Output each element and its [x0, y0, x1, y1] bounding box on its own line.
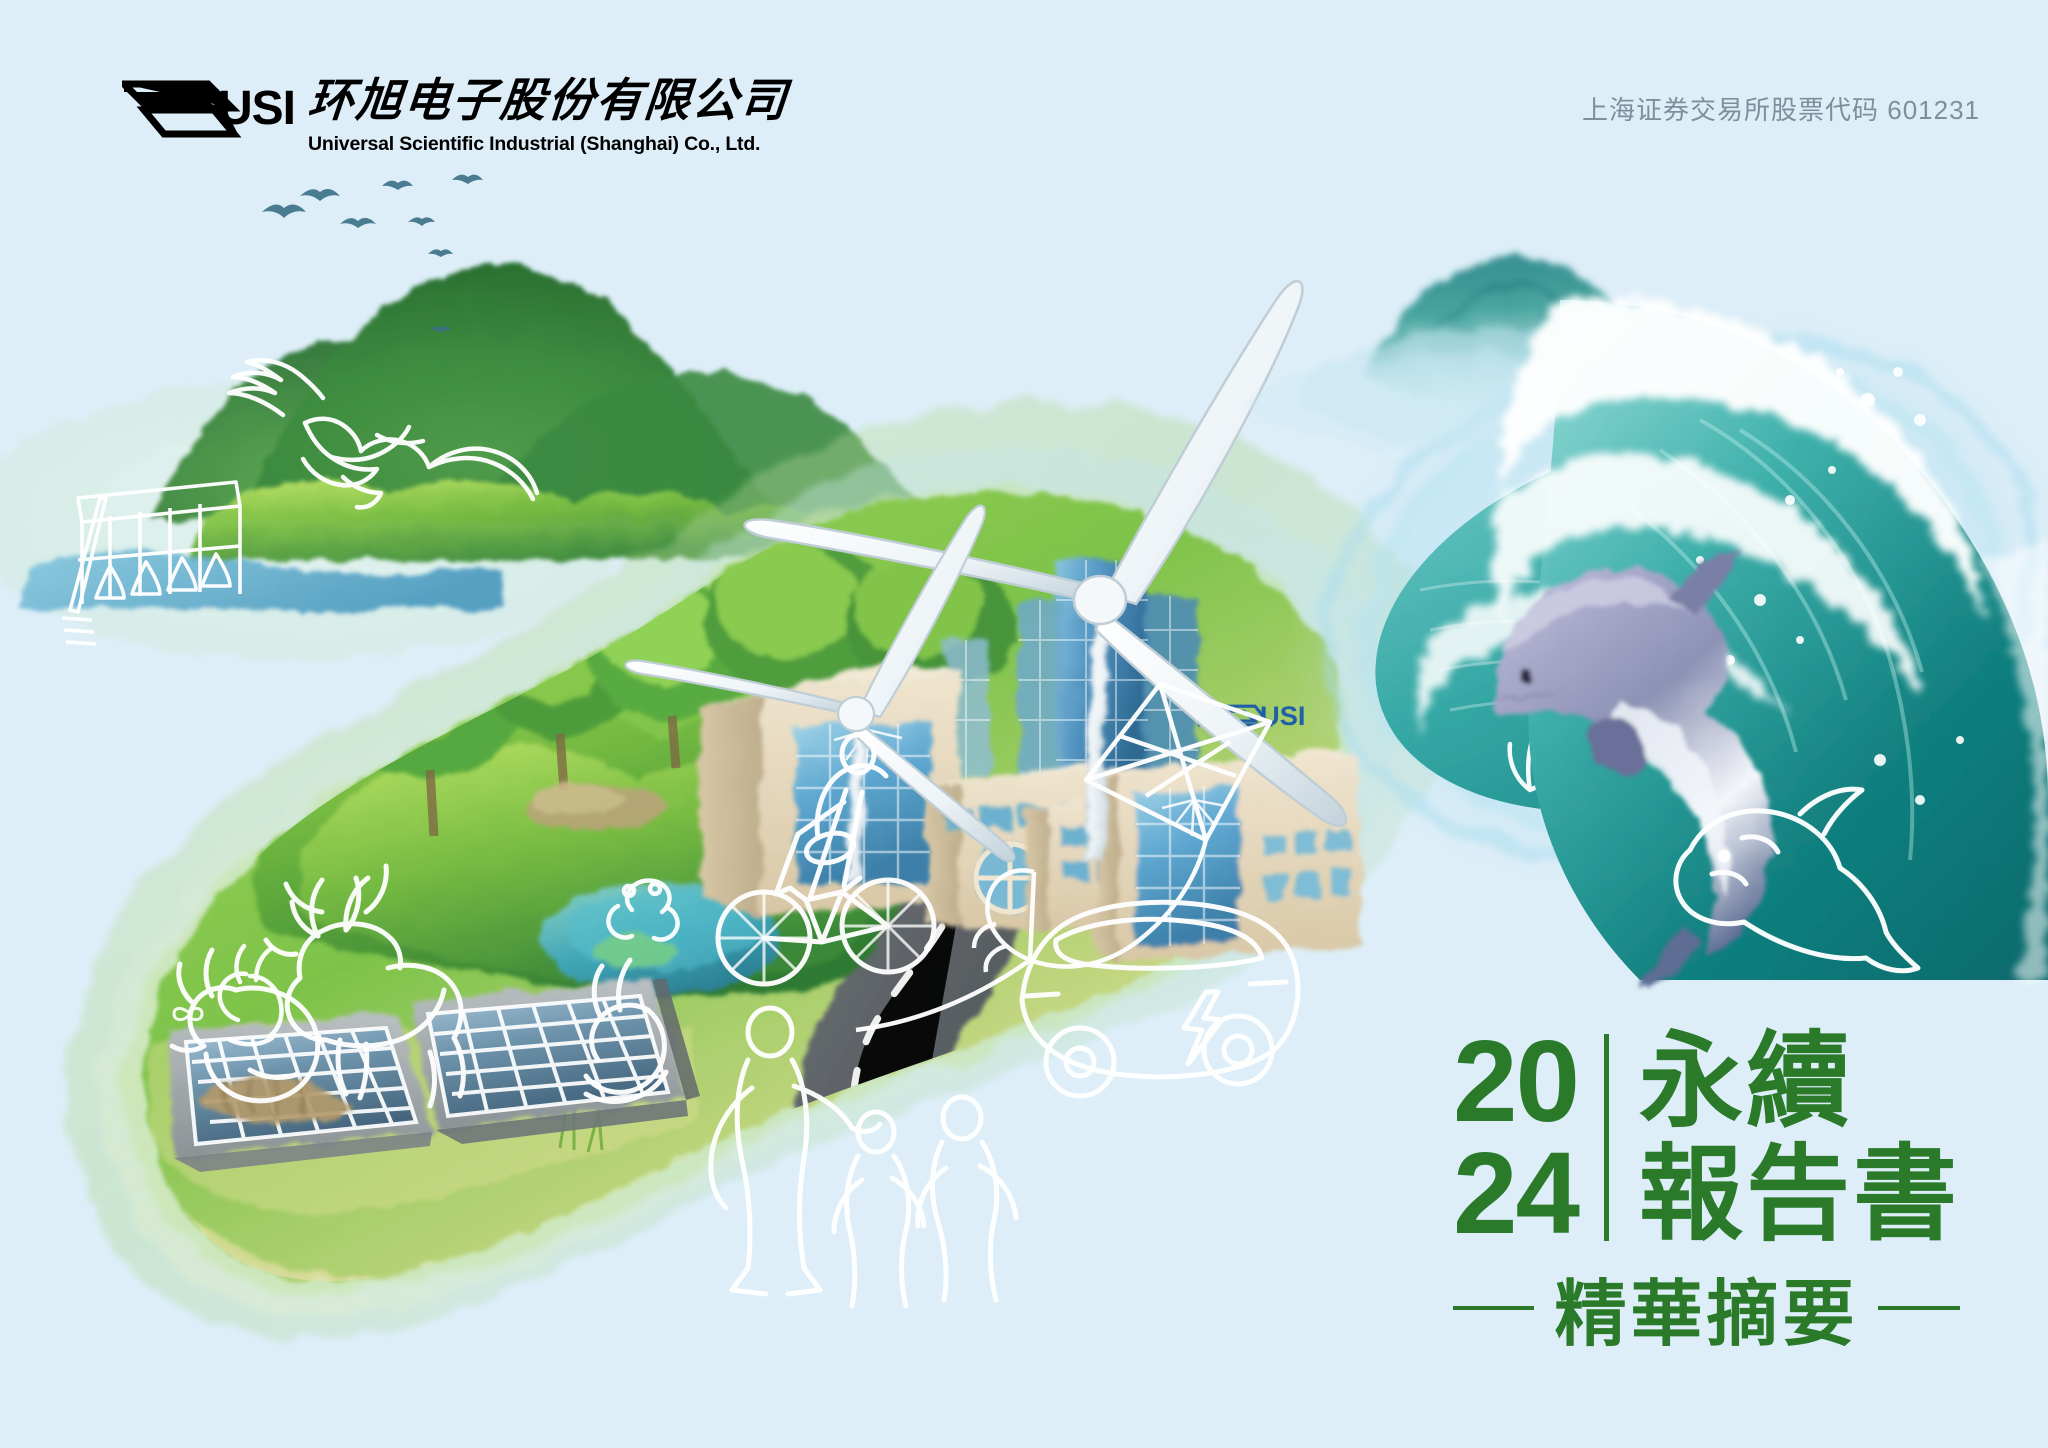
stock-code-label: 上海证券交易所股票代码 601231: [1582, 90, 1980, 127]
report-subtitle-row: 精華摘要: [1453, 1255, 1960, 1360]
title-main-row: 20 24 永續 報告書: [1453, 1026, 1960, 1251]
report-title-text: 永續 報告書: [1609, 1026, 1960, 1251]
company-logo: USI 环旭电子股份有限公司 Universal Scientific Indu…: [122, 78, 788, 156]
report-subtitle: 精華摘要: [1554, 1255, 1858, 1360]
report-title-block: 20 24 永續 報告書 精華摘要: [1453, 1026, 1960, 1360]
cover-header: USI 环旭电子股份有限公司 Universal Scientific Indu…: [0, 0, 2048, 190]
title-line-1: 永續: [1639, 1026, 1960, 1138]
subtitle-rule-right: [1878, 1306, 1960, 1310]
report-cover-page: USI: [0, 0, 2048, 1448]
svg-text:USI: USI: [218, 82, 294, 135]
solar-panel-right: [410, 978, 700, 1144]
year-bottom: 24: [1453, 1138, 1578, 1249]
subtitle-rule-left: [1453, 1306, 1535, 1310]
company-name-cn: 环旭电子股份有限公司: [306, 78, 790, 124]
report-year: 20 24: [1453, 1026, 1604, 1251]
year-top: 20: [1453, 1026, 1578, 1137]
usi-parallelogram-logo-icon: USI: [122, 78, 294, 138]
company-name-en: Universal Scientific Industrial (Shangha…: [308, 133, 788, 156]
title-line-2: 報告書: [1639, 1139, 1960, 1251]
